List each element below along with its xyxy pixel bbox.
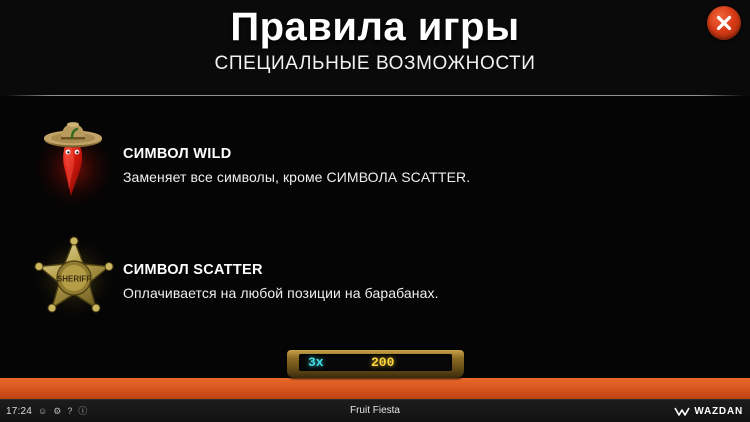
- close-button[interactable]: [707, 6, 741, 40]
- multiplier-value: 3x: [308, 355, 324, 370]
- footer-bar: 17:24 ☺ ⚙ ? ⓘ Fruit Fiesta WAZDAN: [0, 399, 750, 422]
- feature-row: SHERIFF СИМВОЛ SCATTER Оплачивается на л…: [0, 228, 750, 328]
- page-title: Правила игры: [0, 4, 750, 50]
- brand-group[interactable]: WAZDAN: [674, 400, 743, 422]
- sheriff-star-badge-symbol: SHERIFF: [28, 228, 120, 328]
- feature-description: Оплачивается на любой позиции на барабан…: [123, 285, 683, 301]
- close-icon: [707, 6, 741, 40]
- header-divider: [6, 95, 744, 96]
- orange-accent-bar: [0, 378, 750, 400]
- wazdan-logo-icon: [674, 406, 690, 417]
- feature-title: СИМВОЛ SCATTER: [123, 262, 683, 278]
- feature-title: СИМВОЛ WILD: [123, 146, 683, 162]
- feature-description: Заменяет все символы, кроме СИМВОЛА SCAT…: [123, 169, 683, 185]
- win-amount-value: 200: [371, 355, 394, 370]
- sheriff-badge-text: SHERIFF: [57, 275, 91, 284]
- feature-text-block: СИМВОЛ SCATTER Оплачивается на любой поз…: [123, 262, 683, 301]
- feature-text-block: СИМВОЛ WILD Заменяет все символы, кроме …: [123, 146, 683, 185]
- win-plaque: 3x 200: [287, 350, 464, 378]
- chili-pepper-with-sombrero-symbol: [28, 112, 120, 212]
- brand-label: WAZDAN: [694, 406, 743, 417]
- rules-header: Правила игры СПЕЦИАЛЬНЫЕ ВОЗМОЖНОСТИ: [0, 0, 750, 96]
- game-title-label: Fruit Fiesta: [0, 400, 750, 422]
- game-rules-screen: Правила игры СПЕЦИАЛЬНЫЕ ВОЗМОЖНОСТИ: [0, 0, 750, 422]
- feature-row: СИМВОЛ WILD Заменяет все символы, кроме …: [0, 112, 750, 212]
- page-subtitle: СПЕЦИАЛЬНЫЕ ВОЗМОЖНОСТИ: [0, 53, 750, 75]
- plaque-display: 3x 200: [299, 354, 452, 371]
